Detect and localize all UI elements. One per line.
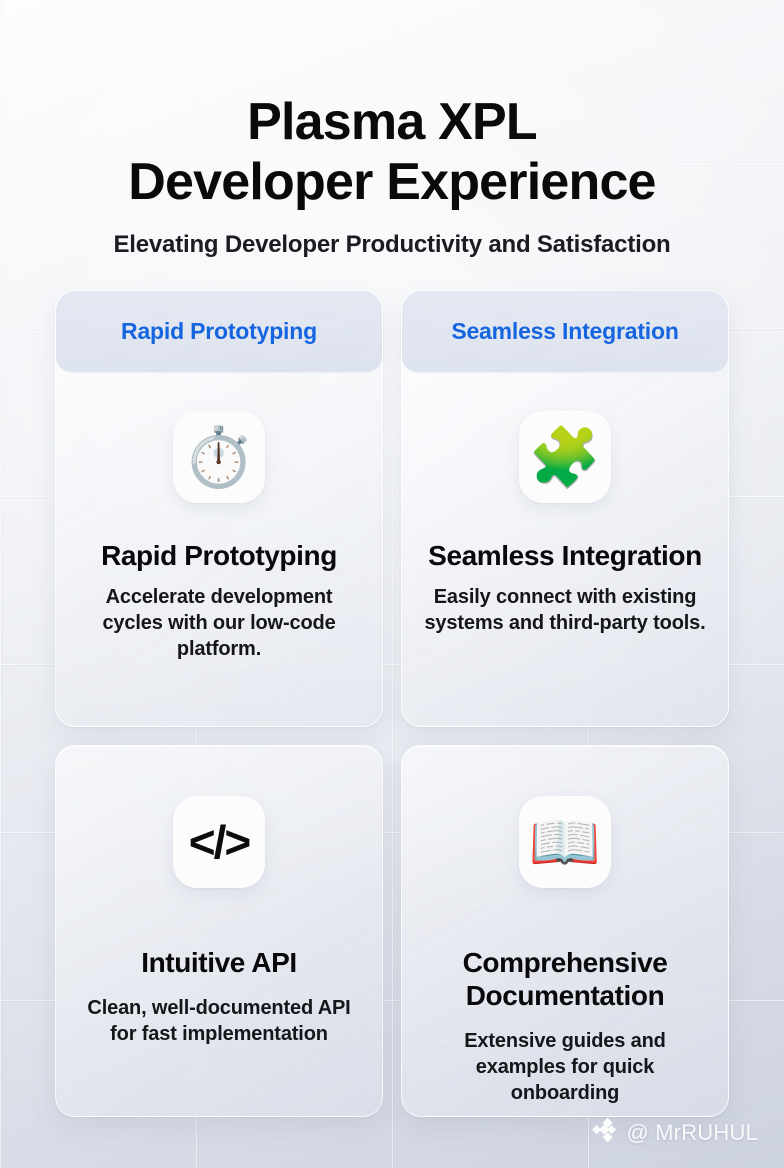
card-header-label: Rapid Prototyping (121, 318, 317, 345)
infographic-page: Plasma XPL Developer Experience Elevatin… (0, 0, 784, 1168)
page-title-line-2: Developer Experience (0, 152, 784, 212)
card-body: ⏱️ Rapid Prototyping Accelerate developm… (56, 373, 382, 726)
card-body: 📖 Comprehensive Documentation Extensive … (402, 746, 728, 1116)
feature-card-grid: Rapid Prototyping ⏱️ Rapid Prototyping A… (55, 290, 729, 1117)
feature-card-rapid-prototyping[interactable]: Rapid Prototyping ⏱️ Rapid Prototyping A… (55, 290, 383, 727)
puzzle-piece-icon: 🧩 (529, 428, 601, 486)
card-description: Easily connect with existing systems and… (402, 584, 728, 636)
card-header-label: Seamless Integration (451, 318, 678, 345)
card-title: Intuitive API (127, 946, 311, 979)
card-description: Extensive guides and examples for quick … (402, 1028, 728, 1106)
card-title: Comprehensive Documentation (402, 946, 728, 1012)
feature-card-comprehensive-documentation[interactable]: 📖 Comprehensive Documentation Extensive … (401, 745, 729, 1117)
card-body: 🧩 Seamless Integration Easily connect wi… (402, 373, 728, 726)
icon-tile: ⏱️ (173, 411, 265, 503)
icon-tile: </> (173, 796, 265, 888)
card-header-bar: Rapid Prototyping (56, 291, 382, 373)
card-description: Accelerate development cycles with our l… (56, 584, 382, 662)
watermark-label: @ MrRUHUL (626, 1120, 758, 1146)
card-title: Seamless Integration (414, 539, 716, 572)
page-title-line-1: Plasma XPL (0, 92, 784, 152)
code-brackets-icon: </> (189, 815, 250, 869)
card-description: Clean, well-documented API for fast impl… (56, 995, 382, 1047)
page-subtitle: Elevating Developer Productivity and Sat… (0, 230, 784, 260)
feature-card-seamless-integration[interactable]: Seamless Integration 🧩 Seamless Integrat… (401, 290, 729, 727)
icon-tile: 📖 (519, 796, 611, 888)
card-header-bar: Seamless Integration (402, 291, 728, 373)
page-header: Plasma XPL Developer Experience Elevatin… (0, 92, 784, 260)
card-body: </> Intuitive API Clean, well-documented… (56, 746, 382, 1116)
card-title: Rapid Prototyping (87, 539, 351, 572)
diamond-cluster-logo-icon (591, 1117, 617, 1148)
watermark: @ MrRUHUL (591, 1117, 758, 1148)
icon-tile: 🧩 (519, 411, 611, 503)
open-book-icon: 📖 (529, 813, 601, 871)
stopwatch-icon: ⏱️ (183, 428, 255, 486)
feature-card-intuitive-api[interactable]: </> Intuitive API Clean, well-documented… (55, 745, 383, 1117)
